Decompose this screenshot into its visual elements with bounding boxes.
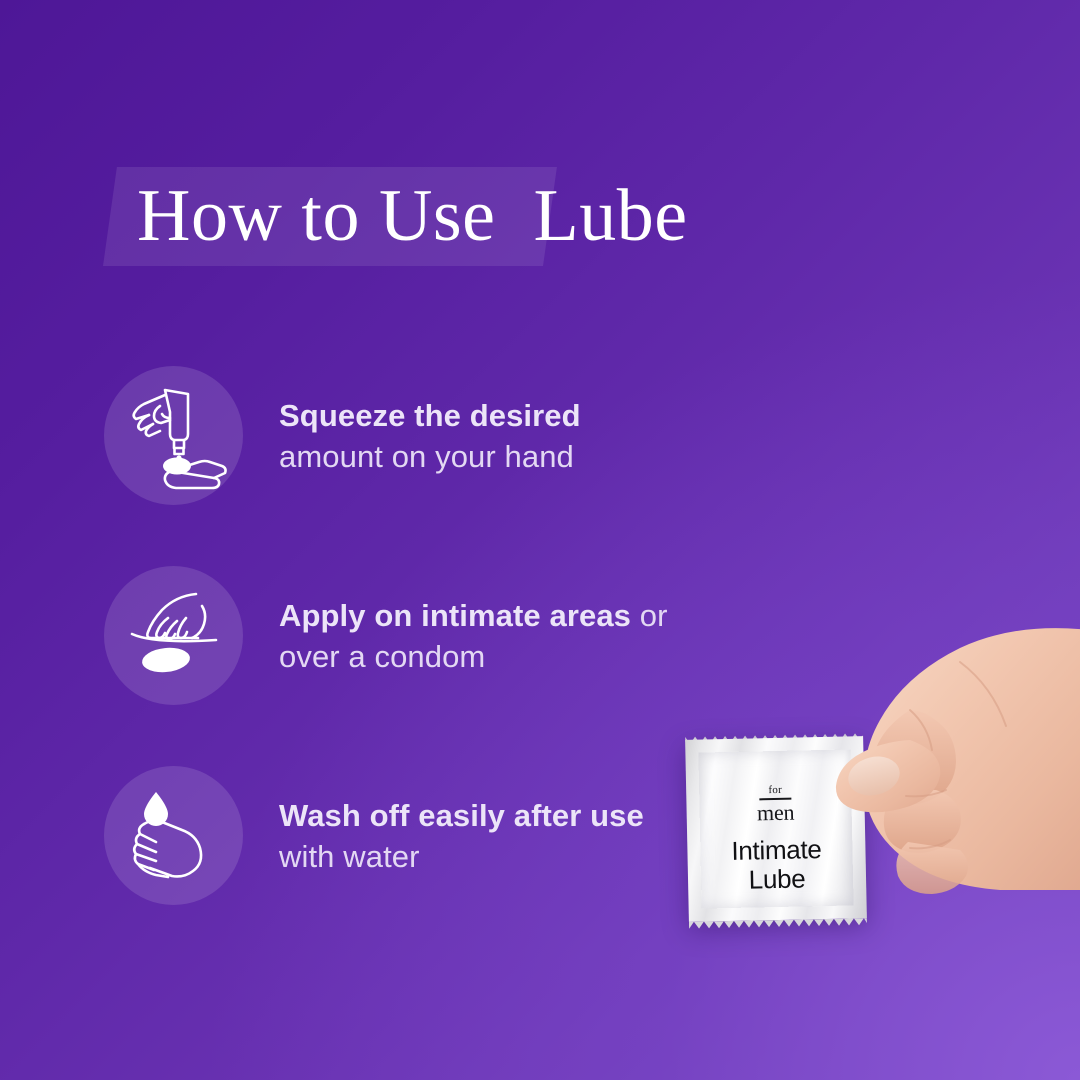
droplet-washing-hand-icon (104, 766, 243, 905)
step-bold-1: Squeeze the desired (279, 398, 581, 433)
hand-holding-packet (760, 590, 1080, 940)
step-bold-2: Apply on intimate areas (279, 598, 631, 633)
page-title: How to UseLube (0, 160, 1080, 280)
product-scene: for men Intimate Lube (660, 590, 1080, 990)
promo-graphic: How to UseLube (0, 0, 1080, 1080)
hand-squeezing-tube-icon (104, 366, 243, 505)
step-bold-3: Wash off easily after use (279, 798, 644, 833)
step-icon-circle-2 (104, 566, 243, 705)
step-regular-3: with water (279, 839, 420, 874)
step-text-3: Wash off easily after use with water (279, 795, 699, 877)
hand-applying-lube-icon (104, 566, 243, 705)
title-accent: Lube (534, 175, 688, 257)
title-text: How to UseLube (137, 160, 688, 272)
step-text-2: Apply on intimate areas or over a condom (279, 595, 699, 677)
step-icon-circle-3 (104, 766, 243, 905)
title-lead: How to Use (137, 175, 496, 257)
step-item-2: Apply on intimate areas or over a condom (104, 566, 699, 705)
step-icon-circle-1 (104, 366, 243, 505)
step-text-1: Squeeze the desired amount on your hand (279, 395, 581, 477)
step-regular-1: amount on your hand (279, 439, 574, 474)
step-item-1: Squeeze the desired amount on your hand (104, 366, 581, 505)
curled-finger-bottom (896, 842, 968, 894)
step-item-3: Wash off easily after use with water (104, 766, 699, 905)
